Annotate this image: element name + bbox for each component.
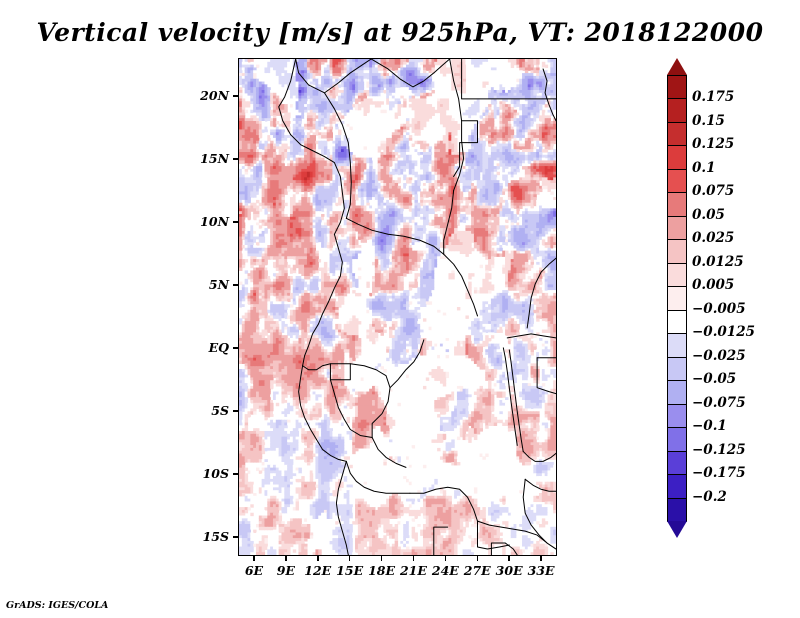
colorbar-band — [667, 451, 687, 476]
y-axis-tick — [233, 347, 238, 349]
colorbar-tick-label: 0.025 — [692, 232, 734, 246]
colorbar-cap-bottom — [667, 521, 687, 538]
colorbar-band — [667, 474, 687, 499]
colorbar-band — [667, 427, 687, 452]
colorbar-tick-label: −0.075 — [692, 397, 746, 411]
page-title: Vertical velocity [m/s] at 925hPa, VT: 2… — [0, 18, 800, 47]
colorbar-band — [667, 357, 687, 382]
colorbar-tick-label: −0.005 — [692, 303, 746, 317]
colorbar-tick-label: 0.05 — [692, 209, 725, 223]
colorbar-band — [667, 239, 687, 264]
colorbar[interactable] — [667, 58, 687, 558]
colorbar-tick-label: 0.15 — [692, 115, 725, 129]
x-axis-tick — [317, 556, 319, 561]
y-axis-label-20n: 20N — [200, 88, 229, 103]
colorbar-band — [667, 286, 687, 311]
x-axis-tick — [540, 556, 542, 561]
grads-attribution: GrADS: IGES/COLA — [6, 600, 108, 611]
colorbar-tick-label: 0.175 — [692, 91, 734, 105]
y-axis-tick — [233, 95, 238, 97]
colorbar-band — [667, 145, 687, 170]
x-axis-tick — [285, 556, 287, 561]
colorbar-tick-label: −0.125 — [692, 444, 746, 458]
colorbar-band — [667, 192, 687, 217]
y-axis-label-15n: 15N — [200, 151, 229, 166]
x-axis-tick — [477, 556, 479, 561]
colorbar-tick-label: −0.1 — [692, 420, 727, 434]
colorbar-band — [667, 75, 687, 100]
colorbar-band — [667, 404, 687, 429]
colorbar-cap-top — [667, 58, 687, 75]
y-axis-tick — [233, 536, 238, 538]
colorbar-band — [667, 310, 687, 335]
colorbar-tick-label: 0.125 — [692, 138, 734, 152]
y-axis-tick — [233, 410, 238, 412]
map-plot-area[interactable] — [238, 58, 557, 556]
colorbar-band — [667, 333, 687, 358]
y-axis-label-10s: 10S — [203, 466, 229, 481]
colorbar-band — [667, 498, 687, 523]
colorbar-tick-label: −0.05 — [692, 373, 736, 387]
colorbar-band — [667, 263, 687, 288]
colorbar-tick-label: −0.025 — [692, 350, 746, 364]
x-axis-tick — [445, 556, 447, 561]
colorbar-tick-label: −0.175 — [692, 467, 746, 481]
y-axis-label-5n: 5N — [209, 277, 229, 292]
colorbar-tick-label: −0.2 — [692, 491, 727, 505]
x-axis-label-33e: 33E — [521, 563, 561, 578]
y-axis-tick — [233, 284, 238, 286]
y-axis-tick — [233, 473, 238, 475]
colorbar-tick-label: 0.005 — [692, 279, 734, 293]
y-axis-label-eq: EQ — [209, 340, 229, 355]
colorbar-tick-label: 0.0125 — [692, 256, 744, 270]
x-axis-tick — [349, 556, 351, 561]
y-axis-label-5s: 5S — [211, 403, 229, 418]
colorbar-band — [667, 169, 687, 194]
country-borders-overlay — [239, 59, 556, 555]
map-plot-inner — [239, 59, 556, 555]
colorbar-band — [667, 122, 687, 147]
x-axis-tick — [508, 556, 510, 561]
colorbar-band — [667, 98, 687, 123]
colorbar-tick-label: −0.0125 — [692, 326, 755, 340]
x-axis-tick — [253, 556, 255, 561]
grads-plot-canvas: Vertical velocity [m/s] at 925hPa, VT: 2… — [0, 0, 800, 618]
y-axis-tick — [233, 221, 238, 223]
y-axis-tick — [233, 158, 238, 160]
y-axis-label-10n: 10N — [200, 214, 229, 229]
x-axis-tick — [413, 556, 415, 561]
colorbar-band — [667, 380, 687, 405]
colorbar-tick-label: 0.1 — [692, 162, 716, 176]
colorbar-tick-label: 0.075 — [692, 185, 734, 199]
x-axis-tick — [381, 556, 383, 561]
y-axis-label-15s: 15S — [203, 529, 229, 544]
colorbar-band — [667, 216, 687, 241]
